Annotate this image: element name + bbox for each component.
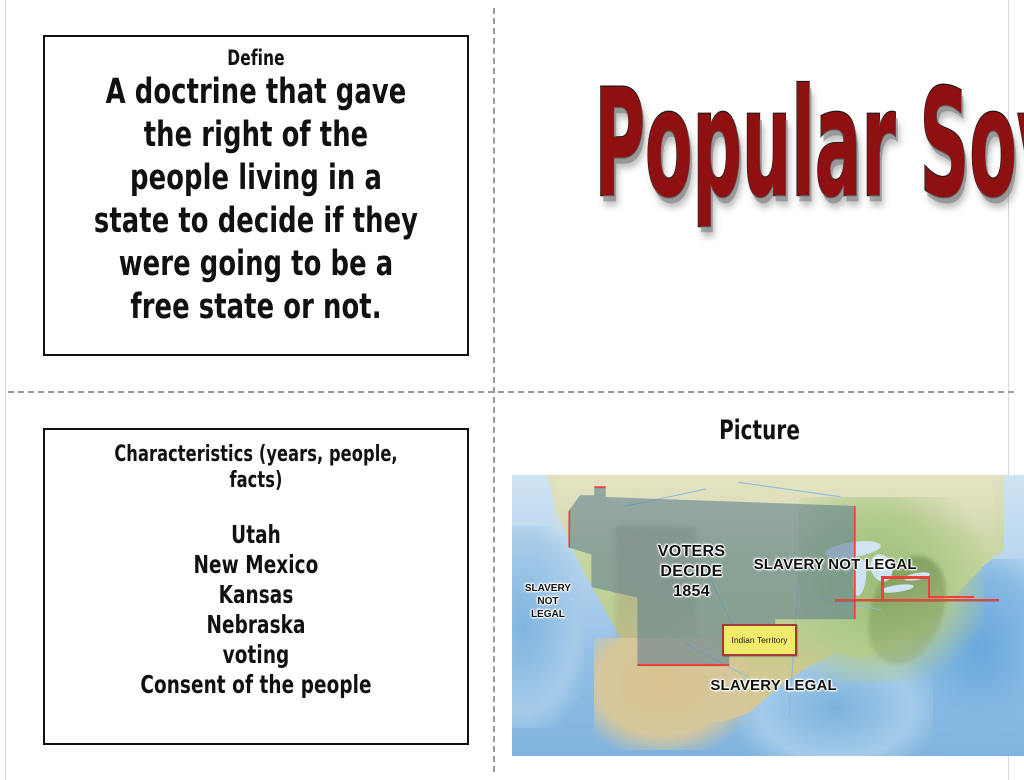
characteristics-label: Characteristics (years, people, facts) [88,442,424,494]
map-pacific-deep [512,526,584,728]
free-slave-border-main [835,599,999,602]
term-wordart-wrapper: Popular Sovereignty [495,92,1024,292]
term-title-wordart: Popular Sovereignty [594,63,1024,224]
quadrant-characteristics: Characteristics (years, people, facts) U… [0,393,493,780]
define-box[interactable]: Define A doctrine that gave the right of… [43,35,469,356]
define-text: A doctrine that gave the right of the pe… [88,71,424,329]
map-label-slavery-not-legal-east: SLAVERY NOT LEGAL [733,556,938,574]
list-item: New Mexico [88,550,424,580]
list-item: voting [88,640,424,670]
picture-label: Picture [543,415,977,447]
list-item: Nebraska [88,610,424,640]
free-slave-border-segment [881,576,927,579]
list-item: Consent of the people [88,670,424,700]
map-label-slavery-not-legal-west: SLAVERY NOT LEGAL [515,582,582,621]
characteristics-box[interactable]: Characteristics (years, people, facts) U… [43,428,469,745]
quadrant-define: Define A doctrine that gave the right of… [0,0,493,391]
list-item: Kansas [88,580,424,610]
map-label-slavery-legal: SLAVERY LEGAL [686,677,860,695]
map-image[interactable]: Indian Territory VOTERS DECIDE 1854 SLAV… [512,475,1024,756]
quadrant-picture: Picture Indian Territory VOTERS DECIDE 1… [495,393,1024,780]
define-label: Define [88,46,424,70]
list-item: Utah [88,520,424,550]
characteristics-list: Utah New Mexico Kansas Nebraska voting C… [88,520,424,700]
quadrant-term: Popular Sovereignty [495,0,1024,391]
free-slave-border-segment [928,576,931,596]
indian-territory-region: Indian Territory [722,624,796,656]
